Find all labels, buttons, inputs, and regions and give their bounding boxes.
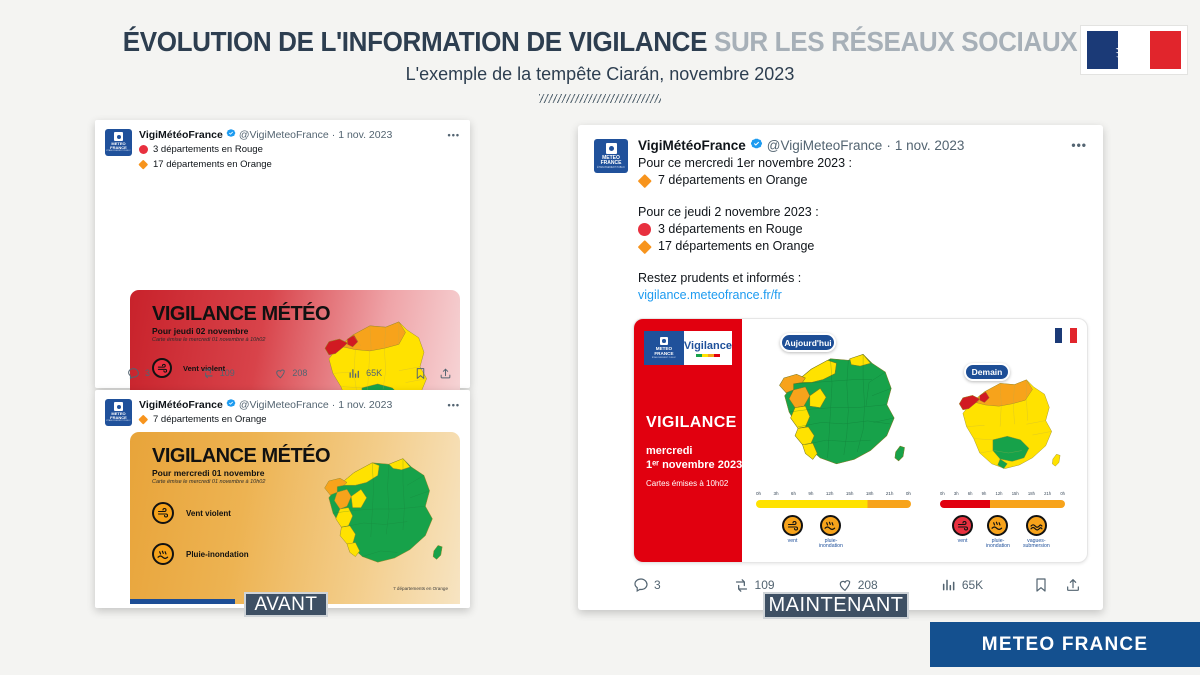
logo-mf-line2: FRANCE <box>654 351 673 356</box>
tweet-date: 1 nov. 2023 <box>895 137 965 154</box>
retweet-icon <box>733 577 750 594</box>
page-title-light: SUR LES RÉSEAUX SOCIAUX <box>714 26 1077 57</box>
tick: 15h <box>1012 491 1019 496</box>
infographic-issued: Cartes émises à 10h02 <box>646 479 728 488</box>
retweet-icon <box>201 366 215 380</box>
caption-before: AVANT <box>244 592 328 617</box>
infographic-page: ÉVOLUTION DE L'INFORMATION DE VIGILANCE … <box>0 0 1200 675</box>
avatar-line2: FRANCE <box>601 161 622 166</box>
tweet-card-new[interactable]: METEO FRANCE ÉTABLISSEMENT PUBLIC VigiMé… <box>578 125 1103 610</box>
heart-icon <box>837 577 853 593</box>
france-map-tomorrow <box>940 369 1065 489</box>
tweet-text: Pour ce mercredi 1er novembre 2023 : 7 d… <box>638 155 1087 304</box>
bullet-text: 3 départements en Rouge <box>153 143 263 156</box>
avatar[interactable]: METEO FRANCE ÉTABLISSEMENT PUBLIC <box>105 399 132 426</box>
bullet-text: 7 départements en Orange <box>153 413 267 426</box>
bullet-text: 3 départements en Rouge <box>658 221 803 238</box>
tweet-header: METEO FRANCE ÉTABLISSEMENT PUBLIC VigiMé… <box>95 390 470 426</box>
tick: 9h <box>982 491 987 496</box>
page-title: ÉVOLUTION DE L'INFORMATION DE VIGILANCE … <box>42 26 1158 58</box>
tick: 12h <box>826 491 834 496</box>
share-icon <box>1065 577 1081 593</box>
footer-brand: METEO FRANCE <box>930 622 1200 667</box>
wave-icon <box>1026 515 1047 536</box>
timeline-bar-today <box>756 500 911 508</box>
tick: 18h <box>1028 491 1035 496</box>
more-options-icon[interactable]: ••• <box>448 129 460 142</box>
risk-label: pluie- inondation <box>819 539 843 550</box>
diamond-orange-icon <box>638 240 651 253</box>
vigilance-wordmark: Vigilance <box>684 331 732 365</box>
marianne-icon <box>1108 32 1160 68</box>
risk-label: vent <box>788 539 798 544</box>
tweet-text: 3 départements en Rouge 17 départements … <box>139 143 460 171</box>
risk-label: Vent violent <box>186 509 231 518</box>
views-count: 65K <box>962 578 983 592</box>
account-handle[interactable]: @VigiMeteoFrance <box>239 129 329 142</box>
retweet-action[interactable]: 109 <box>733 577 837 594</box>
verified-badge-icon <box>226 128 236 142</box>
account-name[interactable]: VigiMétéoFrance <box>139 399 223 412</box>
like-action[interactable]: 208 <box>274 367 348 380</box>
risk-item: vagues- submersion <box>1023 515 1050 550</box>
verified-badge-icon <box>226 398 236 412</box>
tweet-date: 1 nov. 2023 <box>338 399 392 412</box>
share-action[interactable] <box>439 367 452 380</box>
bullet-text: 17 départements en Orange <box>658 238 814 255</box>
more-options-icon[interactable]: ••• <box>448 399 460 412</box>
risk-label: vagues- submersion <box>1023 539 1050 550</box>
tick: 0h <box>906 491 911 496</box>
tweet-link[interactable]: vigilance.meteofrance.fr/fr <box>638 287 1087 304</box>
infographic-day-line2: 1ᵉʳ novembre 2023 <box>646 459 742 471</box>
retweet-count: 109 <box>755 578 775 592</box>
reply-icon <box>127 367 140 380</box>
banner-note: Carte émise le mercredi 01 novembre à 10… <box>152 337 265 343</box>
page-title-strong: ÉVOLUTION DE L'INFORMATION DE VIGILANCE <box>123 26 707 57</box>
share-icon <box>439 367 452 380</box>
bullet-line: 17 départements en Orange <box>139 158 460 171</box>
bullet-line: 3 départements en Rouge <box>638 221 1087 238</box>
risk-item: vent <box>952 515 973 550</box>
bullet-line: 7 départements en Orange <box>638 172 1087 189</box>
bullet-line: 3 départements en Rouge <box>139 143 460 156</box>
page-header: ÉVOLUTION DE L'INFORMATION DE VIGILANCE … <box>0 0 1200 110</box>
tick: 0h <box>756 491 761 496</box>
rain-flood-icon <box>820 515 841 536</box>
bullet-line: 17 départements en Orange <box>638 238 1087 255</box>
vigilance-infographic[interactable]: METEO FRANCE ÉTABLISSEMENT PUBLIC Vigila… <box>633 318 1088 563</box>
map-stats: 7 départements en Orange <box>393 585 448 592</box>
timeline-bar-tomorrow <box>940 500 1065 508</box>
caption-now: MAINTENANT <box>763 592 909 619</box>
tweet-date: 1 nov. 2023 <box>338 129 392 142</box>
avatar-mark <box>606 143 617 154</box>
banner-title: VIGILANCE MÉTÉO <box>152 445 330 468</box>
more-options-icon[interactable]: ••• <box>1071 137 1087 154</box>
bullet-line: 7 départements en Orange <box>139 413 460 426</box>
timeline-ticks-today: 0h 3h 6h 9h 12h 15h 18h 21h 0h <box>756 491 911 496</box>
infographic-day-line1: mercredi <box>646 445 692 457</box>
tweet-header: METEO FRANCE ÉTABLISSEMENT PUBLIC VigiMé… <box>578 125 1103 304</box>
tweet-card-old-2[interactable]: METEO FRANCE ÉTABLISSEMENT PUBLIC VigiMé… <box>95 390 470 608</box>
risk-icons-tomorrow: vent pluie- inondation vagues- submersio… <box>952 515 1050 550</box>
tick: 3h <box>773 491 778 496</box>
avatar-subtitle: ÉTABLISSEMENT PUBLIC <box>597 167 625 169</box>
bookmark-action[interactable] <box>414 367 427 380</box>
reply-action[interactable]: 3 <box>127 367 201 380</box>
title-divider-hatch <box>539 94 661 103</box>
france-vigilance-map <box>305 446 445 586</box>
bookmark-action[interactable] <box>1033 577 1049 593</box>
banner-subtitle: Pour jeudi 02 novembre <box>152 326 248 336</box>
separator: · <box>332 129 336 142</box>
avatar[interactable]: METEO FRANCE ÉTABLISSEMENT PUBLIC <box>105 129 132 156</box>
diamond-orange-icon <box>638 174 651 187</box>
like-count: 208 <box>858 578 878 592</box>
account-name[interactable]: VigiMétéoFrance <box>638 137 746 154</box>
views-count: 65K <box>366 368 382 378</box>
separator: · <box>332 399 336 412</box>
avatar-subtitle: ÉTABLISSEMENT PUBLIC <box>106 420 130 422</box>
retweet-count: 109 <box>220 368 235 378</box>
tick: 12h <box>996 491 1003 496</box>
map-stat-line: 7 départements en Orange <box>393 585 448 592</box>
like-action[interactable]: 208 <box>837 577 941 593</box>
paragraph-spacer <box>638 189 1087 204</box>
risk-item: pluie- inondation <box>986 515 1010 550</box>
tick: 0h <box>940 491 945 496</box>
wind-icon <box>782 515 803 536</box>
tick: 6h <box>968 491 973 496</box>
avatar-mark <box>114 132 123 141</box>
france-map-today <box>756 341 911 489</box>
separator: · <box>886 137 891 154</box>
tick: 21h <box>1044 491 1051 496</box>
reply-count: 3 <box>654 578 661 592</box>
republique-francaise-logo <box>1080 25 1188 75</box>
risk-label: Pluie-inondation <box>186 550 249 559</box>
risk-row: Vent violent <box>152 502 231 524</box>
circle-red-icon <box>638 223 651 236</box>
tweet-header: METEO FRANCE ÉTABLISSEMENT PUBLIC VigiMé… <box>95 120 470 171</box>
avatar[interactable]: METEO FRANCE ÉTABLISSEMENT PUBLIC <box>594 139 628 173</box>
tweet-actions: 3 109 208 65K <box>127 364 452 382</box>
tweet-paragraph: Pour ce jeudi 2 novembre 2023 : <box>638 204 1087 221</box>
risk-label: pluie- inondation <box>986 539 1010 550</box>
risk-item: vent <box>782 515 803 550</box>
bookmark-icon <box>414 367 427 380</box>
rain-flood-icon <box>152 543 174 565</box>
paragraph-spacer <box>638 255 1087 270</box>
reply-action[interactable]: 3 <box>633 577 733 593</box>
like-count: 208 <box>292 368 307 378</box>
tweet-text: 7 départements en Orange <box>139 413 460 426</box>
avatar-mark <box>114 402 123 411</box>
tick: 6h <box>791 491 796 496</box>
vigilance-scale-icon <box>696 354 720 357</box>
tick: 3h <box>954 491 959 496</box>
tick: 18h <box>866 491 874 496</box>
risk-label: vent <box>958 539 968 544</box>
bullet-text: 7 départements en Orange <box>658 172 807 189</box>
circle-red-icon <box>139 145 148 154</box>
page-subtitle: L'exemple de la tempête Ciarán, novembre… <box>0 64 1200 85</box>
views-action[interactable]: 65K <box>941 577 1033 593</box>
account-handle[interactable]: @VigiMeteoFrance <box>767 137 883 154</box>
share-action[interactable] <box>1065 577 1081 593</box>
french-flag-icon <box>1087 31 1181 69</box>
vigilance-logo: METEO FRANCE ÉTABLISSEMENT PUBLIC Vigila… <box>644 331 732 365</box>
diamond-orange-icon <box>139 415 148 424</box>
verified-badge-icon <box>750 137 763 154</box>
account-name[interactable]: VigiMétéoFrance <box>139 129 223 142</box>
vigilance-label: Vigilance <box>684 340 732 352</box>
analytics-icon <box>348 367 361 380</box>
vigilance-banner-image[interactable]: VIGILANCE MÉTÉO Pour mercredi 01 novembr… <box>130 432 460 604</box>
bullet-text: 17 départements en Orange <box>153 158 272 171</box>
reply-icon <box>633 577 649 593</box>
brand-accent-bar <box>130 599 235 604</box>
banner-subtitle: Pour mercredi 01 novembre <box>152 468 264 478</box>
banner-note: Carte émise le mercredi 01 novembre à 10… <box>152 479 265 485</box>
risk-icons-today: vent pluie- inondation <box>782 515 843 550</box>
account-handle[interactable]: @VigiMeteoFrance <box>239 399 329 412</box>
banner-title: VIGILANCE MÉTÉO <box>152 303 330 326</box>
tick: 21h <box>886 491 894 496</box>
retweet-action[interactable]: 109 <box>201 366 275 380</box>
tweet-paragraph: Pour ce mercredi 1er novembre 2023 : <box>638 155 1087 172</box>
avatar-subtitle: ÉTABLISSEMENT PUBLIC <box>106 150 130 152</box>
diamond-orange-icon <box>139 160 148 169</box>
risk-item: pluie- inondation <box>819 515 843 550</box>
views-action[interactable]: 65K <box>348 367 414 380</box>
analytics-icon <box>941 577 957 593</box>
tweet-paragraph: Restez prudents et informés : <box>638 270 1087 287</box>
tick: 9h <box>808 491 813 496</box>
tick: 0h <box>1060 491 1065 496</box>
reply-count: 3 <box>145 368 150 378</box>
heart-icon <box>274 367 287 380</box>
meteo-france-logo: METEO FRANCE ÉTABLISSEMENT PUBLIC <box>644 331 684 365</box>
infographic-heading: VIGILANCE <box>646 414 737 432</box>
french-flag-icon <box>1055 328 1077 343</box>
tweet-card-old-1[interactable]: METEO FRANCE ÉTABLISSEMENT PUBLIC VigiMé… <box>95 120 470 388</box>
bookmark-icon <box>1033 577 1049 593</box>
wind-icon <box>952 515 973 536</box>
risk-row: Pluie-inondation <box>152 543 249 565</box>
tick: 15h <box>846 491 854 496</box>
timeline-ticks-tomorrow: 0h 3h 6h 9h 12h 15h 18h 21h 0h <box>940 491 1065 496</box>
wind-icon <box>152 502 174 524</box>
rain-flood-icon <box>987 515 1008 536</box>
